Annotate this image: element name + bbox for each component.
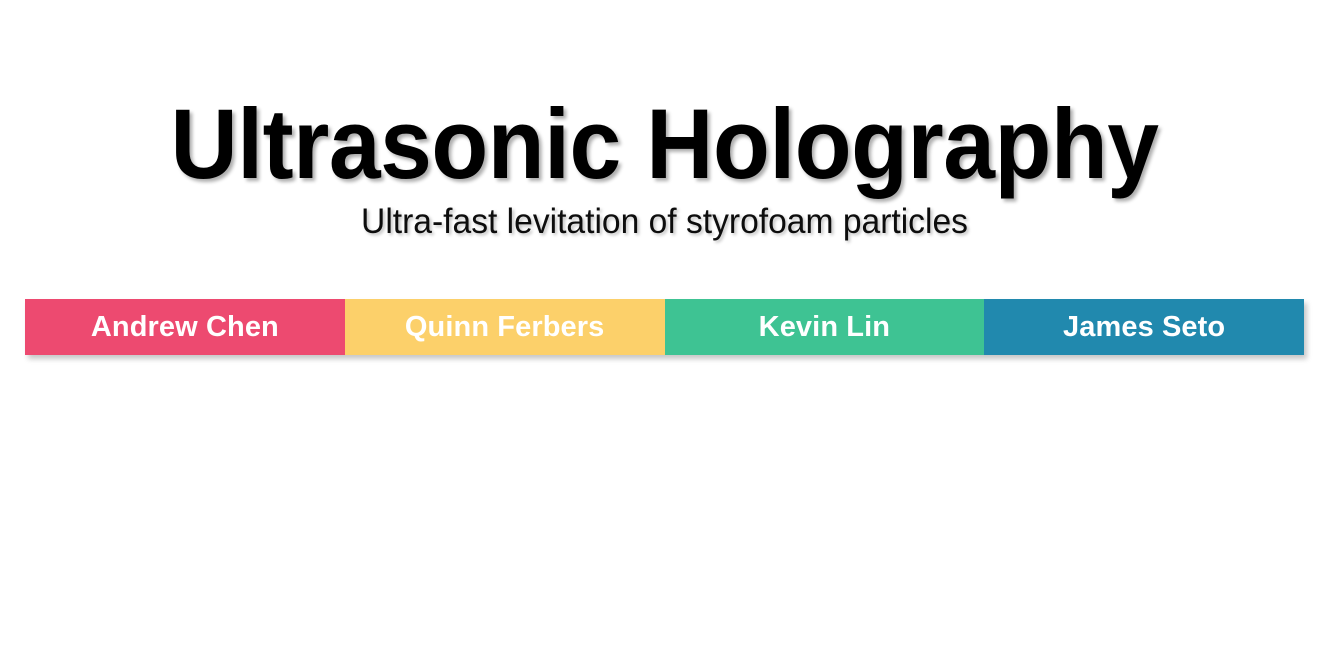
title-block: Ultrasonic Holography Ultra-fast levitat… [0,92,1329,242]
author-name-label: Kevin Lin [759,313,890,342]
author-name-label: Andrew Chen [91,313,279,342]
author-name-label: James Seto [1063,313,1225,342]
author-chip-james-seto[interactable]: James Seto [984,299,1304,355]
author-bar: Andrew Chen Quinn Ferbers Kevin Lin Jame… [25,299,1304,355]
slide-content-area [0,365,1329,665]
author-chip-andrew-chen[interactable]: Andrew Chen [25,299,345,355]
page-title: Ultrasonic Holography [40,92,1289,196]
author-name-label: Quinn Ferbers [405,313,605,342]
page-subtitle: Ultra-fast levitation of styrofoam parti… [27,202,1303,242]
author-chip-kevin-lin[interactable]: Kevin Lin [665,299,985,355]
title-slide: Ultrasonic Holography Ultra-fast levitat… [0,0,1329,665]
author-chip-quinn-ferbers[interactable]: Quinn Ferbers [345,299,665,355]
